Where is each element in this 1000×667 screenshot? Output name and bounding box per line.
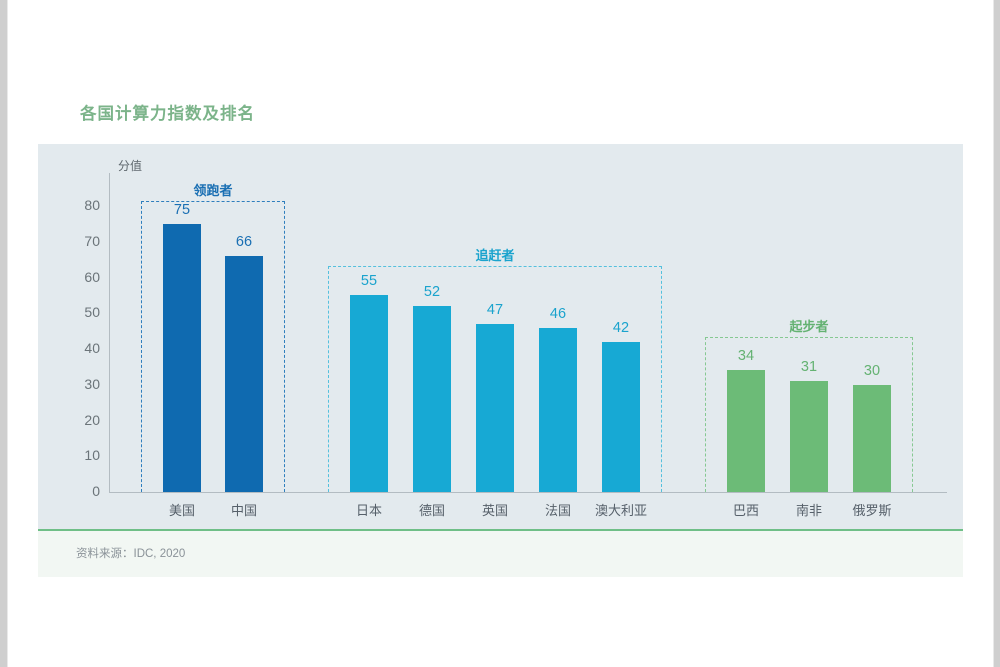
bar[interactable] xyxy=(853,385,891,492)
source-note: 资料来源：IDC, 2020 xyxy=(76,545,185,561)
chart-footer: 资料来源：IDC, 2020 xyxy=(38,529,963,577)
bar-value-label: 75 xyxy=(152,202,212,218)
y-axis-unit-label: 分值 xyxy=(118,157,142,174)
group-label: 追赶者 xyxy=(328,245,662,264)
group-label: 起步者 xyxy=(705,316,913,335)
x-axis-category-label: 中国 xyxy=(199,500,289,519)
bar[interactable] xyxy=(413,306,451,492)
slide-canvas: 各国计算力指数及排名 分值 80706050403020100 领跑者追赶者起步… xyxy=(8,0,993,667)
y-axis-tick-label: 50 xyxy=(66,304,100,320)
bar-value-label: 52 xyxy=(402,284,462,300)
y-axis-tick-label: 0 xyxy=(66,483,100,499)
bar-value-label: 66 xyxy=(214,234,274,250)
bar[interactable] xyxy=(476,324,514,492)
bar-value-label: 46 xyxy=(528,306,588,322)
bar[interactable] xyxy=(225,256,263,492)
x-axis-line xyxy=(109,492,947,493)
bar[interactable] xyxy=(602,342,640,492)
bar-value-label: 47 xyxy=(465,302,525,318)
y-axis-tick-label: 80 xyxy=(66,197,100,213)
bar-value-label: 30 xyxy=(842,363,902,379)
bar-value-label: 34 xyxy=(716,348,776,364)
y-axis-tick-label: 40 xyxy=(66,340,100,356)
page-title: 各国计算力指数及排名 xyxy=(80,100,255,124)
bar-value-label: 55 xyxy=(339,273,399,289)
y-axis-line xyxy=(109,173,110,493)
group-label: 领跑者 xyxy=(141,180,285,199)
bar-value-label: 42 xyxy=(591,320,651,336)
y-axis-tick-label: 10 xyxy=(66,447,100,463)
bar[interactable] xyxy=(790,381,828,492)
footer-divider xyxy=(38,529,963,531)
bar[interactable] xyxy=(727,370,765,492)
bar-value-label: 31 xyxy=(779,359,839,375)
bar[interactable] xyxy=(163,224,201,492)
y-axis-tick-label: 30 xyxy=(66,376,100,392)
bar[interactable] xyxy=(539,328,577,492)
x-axis-category-label: 俄罗斯 xyxy=(827,500,917,519)
y-axis-tick-label: 70 xyxy=(66,233,100,249)
y-axis-tick-label: 20 xyxy=(66,412,100,428)
y-axis-tick-label: 60 xyxy=(66,269,100,285)
bar[interactable] xyxy=(350,295,388,492)
x-axis-category-label: 澳大利亚 xyxy=(576,500,666,519)
